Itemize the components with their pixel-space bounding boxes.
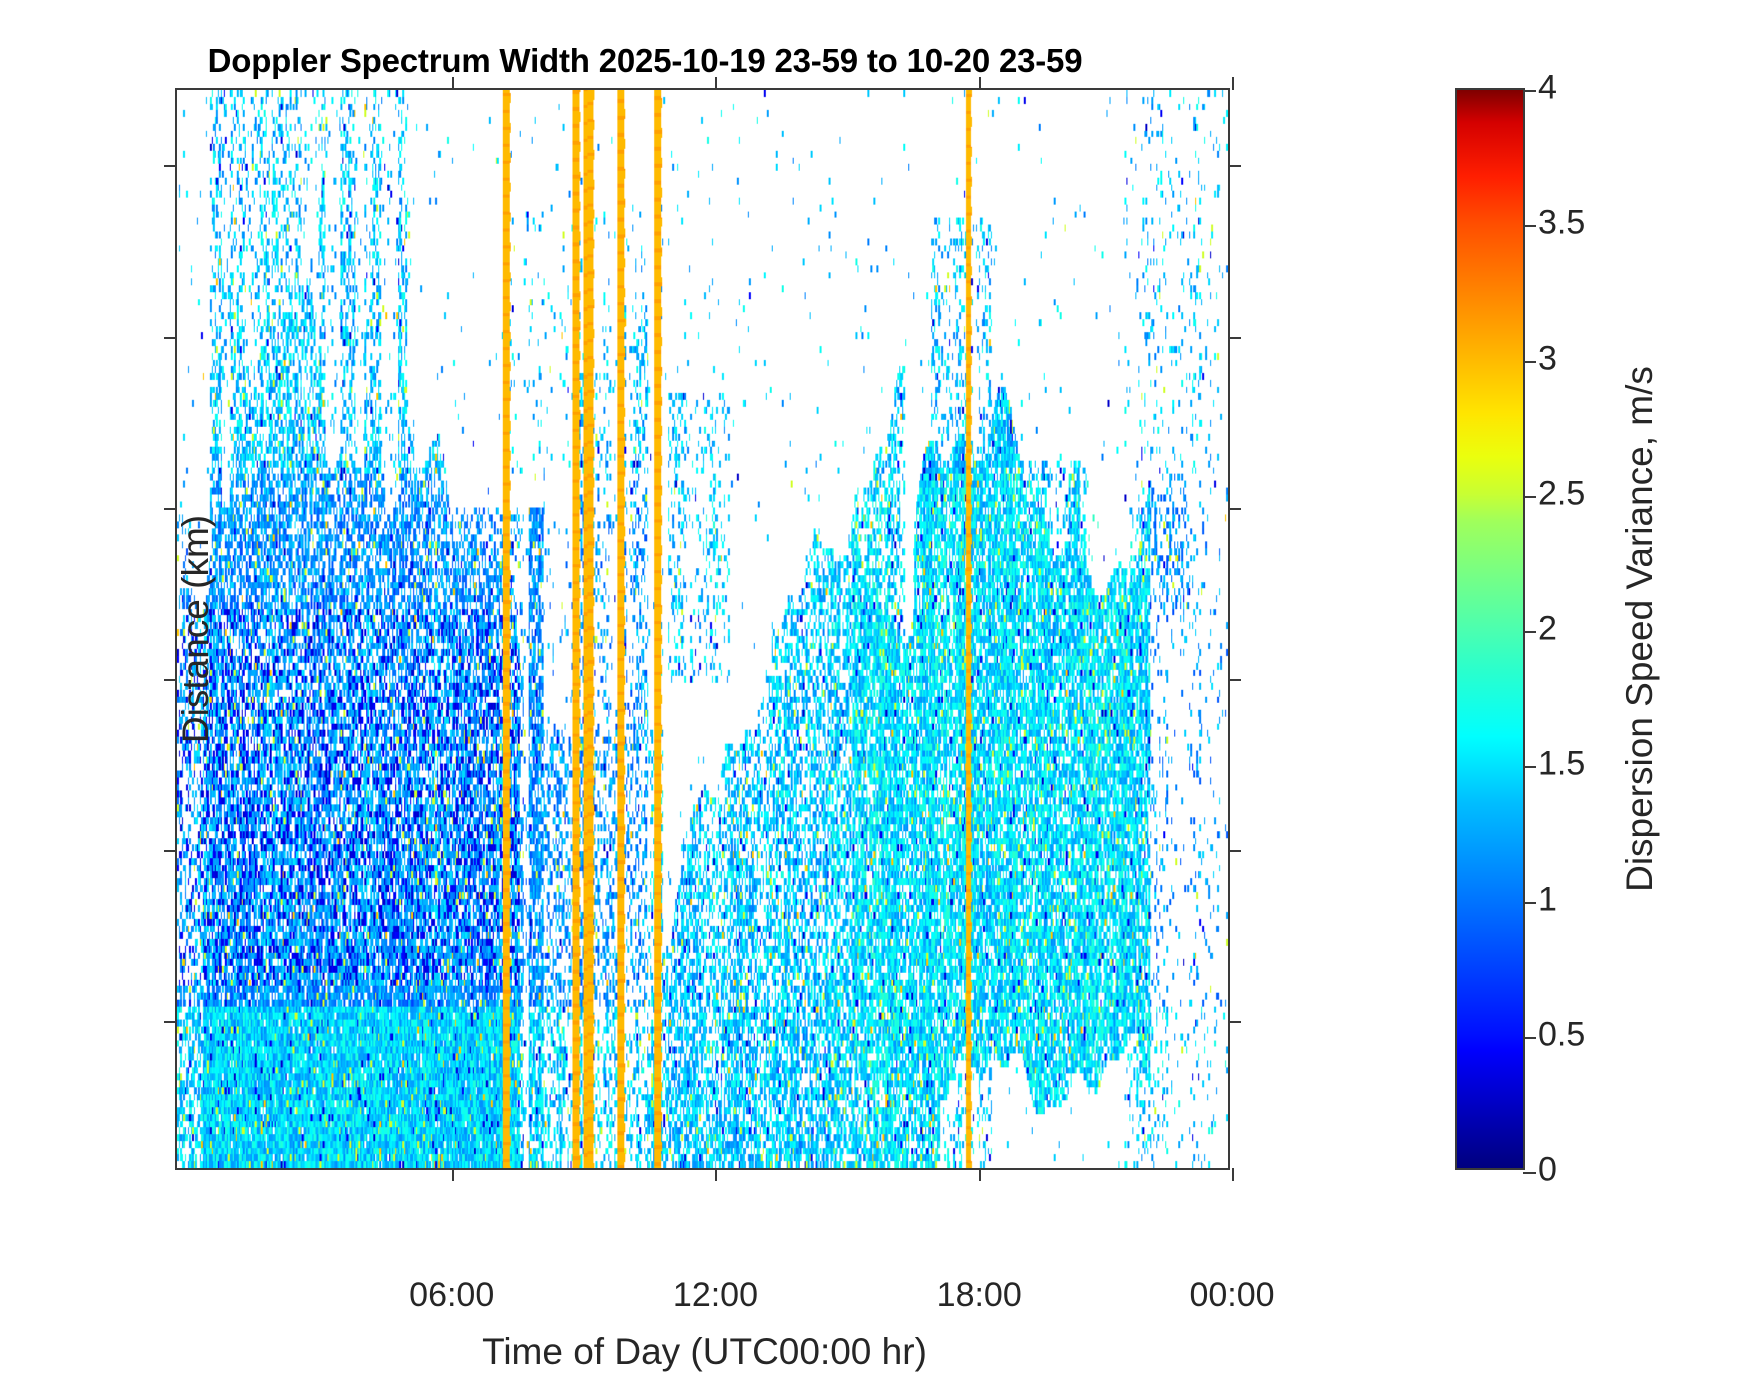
x-tick-mark-top (452, 77, 454, 90)
x-tick-mark (979, 1168, 981, 1181)
y-tick-mark (164, 850, 177, 852)
colorbar-tick-label: 1 (1538, 880, 1648, 919)
colorbar-tick-label: 2 (1538, 610, 1648, 649)
colorbar-tick-label: 4 (1538, 69, 1648, 108)
y-tick-mark-right (1228, 679, 1241, 681)
colorbar-tick-mark (1523, 902, 1536, 904)
x-tick-label: 00:00 (1132, 1276, 1332, 1315)
figure-title: Doppler Spectrum Width 2025-10-19 23-59 … (0, 42, 1290, 80)
colorbar-tick-label: 0.5 (1538, 1015, 1648, 1054)
y-axis-title: Distance (km) (175, 515, 217, 743)
colorbar-tick-mark (1523, 1037, 1536, 1039)
colorbar-tick-label: 3.5 (1538, 204, 1648, 243)
x-tick-mark (715, 1168, 717, 1181)
y-tick-mark-right (1228, 337, 1241, 339)
x-tick-mark-top (979, 77, 981, 90)
figure-root: Doppler Spectrum Width 2025-10-19 23-59 … (0, 0, 1750, 1313)
x-axis-title: Time of Day (UTC00:00 hr) (177, 1331, 1232, 1373)
heatmap-canvas (177, 90, 1228, 1168)
colorbar-tick-mark (1523, 766, 1536, 768)
x-tick-mark-top (1232, 77, 1234, 90)
y-tick-mark-right (1228, 850, 1241, 852)
colorbar-tick-label: 1.5 (1538, 745, 1648, 784)
colorbar (1455, 88, 1525, 1170)
y-tick-mark (164, 679, 177, 681)
x-tick-label: 06:00 (352, 1276, 552, 1315)
colorbar-tick-label: 2.5 (1538, 474, 1648, 513)
heatmap-axes: Distance (km) Time of Day (UTC00:00 hr) … (175, 88, 1230, 1170)
x-tick-label: 18:00 (879, 1276, 1079, 1315)
x-tick-label: 12:00 (615, 1276, 815, 1315)
colorbar-tick-label: 3 (1538, 339, 1648, 378)
y-tick-mark-right (1228, 165, 1241, 167)
x-tick-mark-top (715, 77, 717, 90)
colorbar-tick-mark (1523, 361, 1536, 363)
y-tick-mark (164, 508, 177, 510)
y-tick-mark (164, 1021, 177, 1023)
y-tick-mark (164, 165, 177, 167)
colorbar-tick-mark (1523, 225, 1536, 227)
y-tick-mark (164, 337, 177, 339)
x-tick-mark (452, 1168, 454, 1181)
y-tick-mark-right (1228, 508, 1241, 510)
colorbar-tick-mark (1523, 1172, 1536, 1174)
colorbar-tick-mark (1523, 631, 1536, 633)
colorbar-tick-label: 0 (1538, 1151, 1648, 1190)
y-tick-mark-right (1228, 1021, 1241, 1023)
colorbar-tick-mark (1523, 90, 1536, 92)
colorbar-tick-mark (1523, 496, 1536, 498)
colorbar-gradient (1457, 90, 1523, 1168)
x-tick-mark (1232, 1168, 1234, 1181)
